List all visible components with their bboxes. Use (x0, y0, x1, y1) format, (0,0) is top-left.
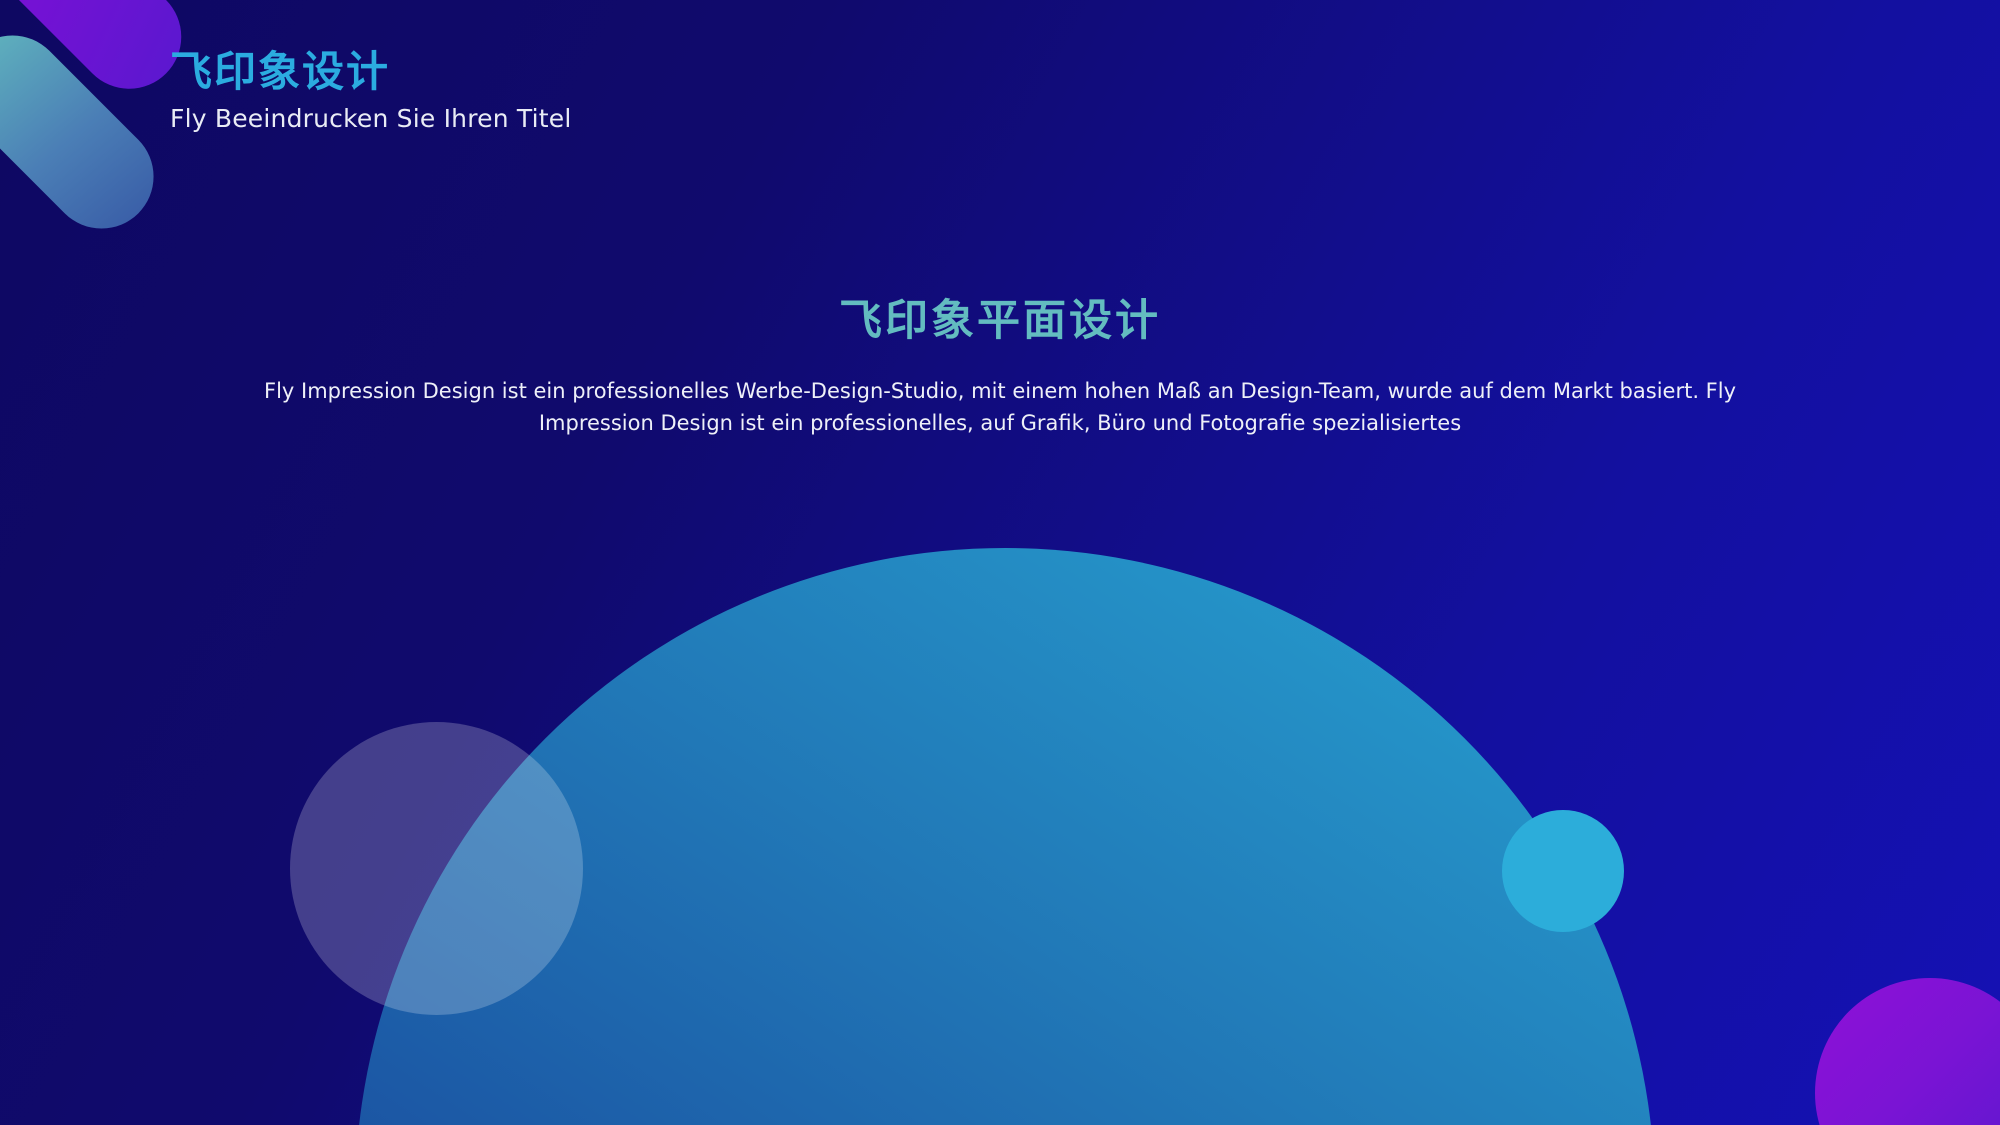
brand-header: 飞印象设计 Fly Beeindrucken Sie Ihren Titel (170, 48, 572, 133)
small-cyan-circle-decoration (1502, 810, 1624, 932)
body-paragraph: Fly Impression Design ist ein profession… (220, 376, 1780, 440)
main-content: 飞印象平面设计 Fly Impression Design ist ein pr… (0, 296, 2000, 439)
purple-circle-bottom-right-decoration (1815, 978, 2000, 1125)
logo-subtitle: Fly Beeindrucken Sie Ihren Titel (170, 104, 572, 133)
presentation-slide: 飞印象设计 Fly Beeindrucken Sie Ihren Titel 飞… (0, 0, 2000, 1125)
medium-translucent-circle-decoration (290, 722, 583, 1015)
page-title: 飞印象平面设计 (0, 296, 2000, 348)
logo-title: 飞印象设计 (170, 48, 572, 96)
